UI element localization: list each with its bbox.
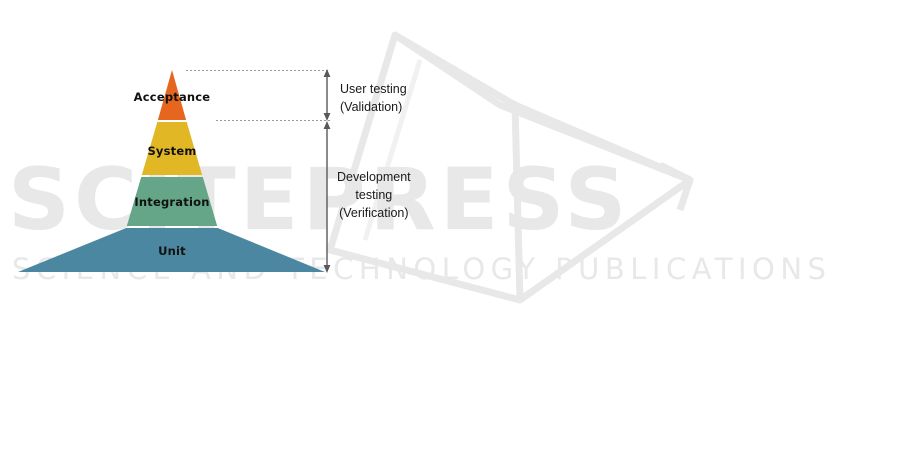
- pyramid-label-system: System: [147, 144, 196, 158]
- pyramid-diagram: [0, 0, 901, 460]
- annotation-development-testing-line2: testing: [337, 186, 411, 204]
- pyramid-label-unit: Unit: [158, 244, 186, 258]
- arrowhead-user-bottom: [324, 113, 331, 121]
- annotation-development-testing-line3: (Verification): [337, 204, 411, 222]
- pyramid-label-acceptance: Acceptance: [134, 90, 211, 104]
- pyramid-label-integration: Integration: [134, 195, 209, 209]
- annotation-user-testing-line1: User testing: [340, 80, 407, 98]
- figure-canvas: SCITEPRESS SCIENCE AND TECHNOLOGY PUBLIC…: [0, 0, 901, 460]
- arrowhead-dev-bottom: [324, 265, 331, 273]
- arrowhead-user-top: [324, 69, 331, 77]
- arrowhead-dev-top: [324, 121, 331, 129]
- annotation-user-testing: User testing (Validation): [340, 80, 407, 116]
- annotation-user-testing-line2: (Validation): [340, 98, 407, 116]
- annotation-development-testing-line1: Development: [337, 168, 411, 186]
- annotation-development-testing: Development testing (Verification): [337, 168, 411, 222]
